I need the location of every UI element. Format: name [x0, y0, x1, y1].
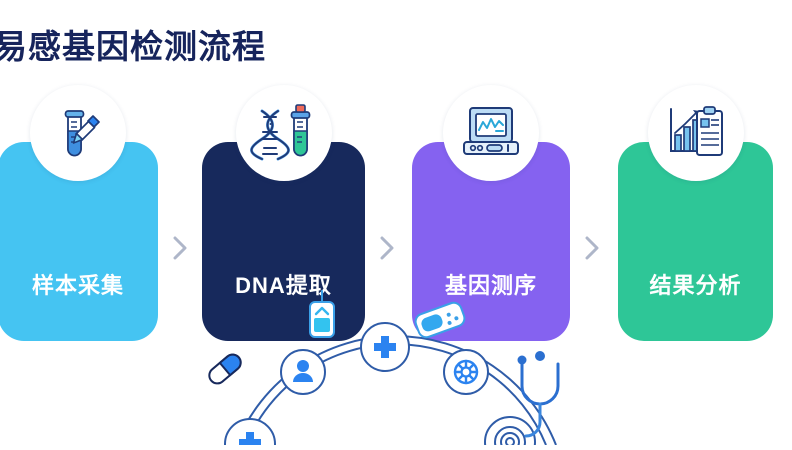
process-flow: 样本采集 — [0, 85, 792, 265]
stethoscope-icon — [518, 351, 559, 436]
flow-step-2-icon-bubble — [236, 85, 332, 181]
flow-step-1-icon-bubble — [30, 85, 126, 181]
decoration-arc-inner — [246, 344, 546, 445]
user-node-icon — [281, 350, 325, 394]
medical-cross-node-icon — [225, 419, 275, 445]
decoration-arc-outer — [236, 336, 556, 445]
flow-step-3[interactable]: 基因测序 — [412, 142, 570, 341]
page-title: 易感基因检测流程 — [0, 20, 266, 68]
chevron-right-icon — [170, 235, 190, 261]
flow-step-3-label: 基因测序 — [412, 268, 570, 300]
bar-chart-report-icon — [663, 103, 729, 163]
chevron-right-icon — [582, 235, 602, 261]
flow-step-4-label: 结果分析 — [618, 268, 773, 300]
flow-step-1[interactable]: 样本采集 — [0, 142, 158, 341]
dna-helix-test-tube-icon — [250, 101, 318, 165]
flow-step-2-label: DNA提取 — [202, 268, 365, 300]
spiral-node-icon — [485, 417, 535, 445]
capsule-pill-icon — [206, 351, 244, 386]
flow-step-2[interactable]: DNA提取 — [202, 142, 365, 341]
sequencer-laptop-icon — [458, 104, 524, 162]
chevron-right-icon — [377, 235, 397, 261]
flow-step-4-icon-bubble — [648, 85, 744, 181]
test-tube-dropper-icon — [46, 101, 110, 165]
flow-step-4[interactable]: 结果分析 — [618, 142, 773, 341]
medical-cross-node-icon — [361, 323, 409, 371]
flow-step-1-label: 样本采集 — [0, 268, 158, 300]
gear-node-icon — [444, 350, 488, 394]
flow-step-3-icon-bubble — [443, 85, 539, 181]
